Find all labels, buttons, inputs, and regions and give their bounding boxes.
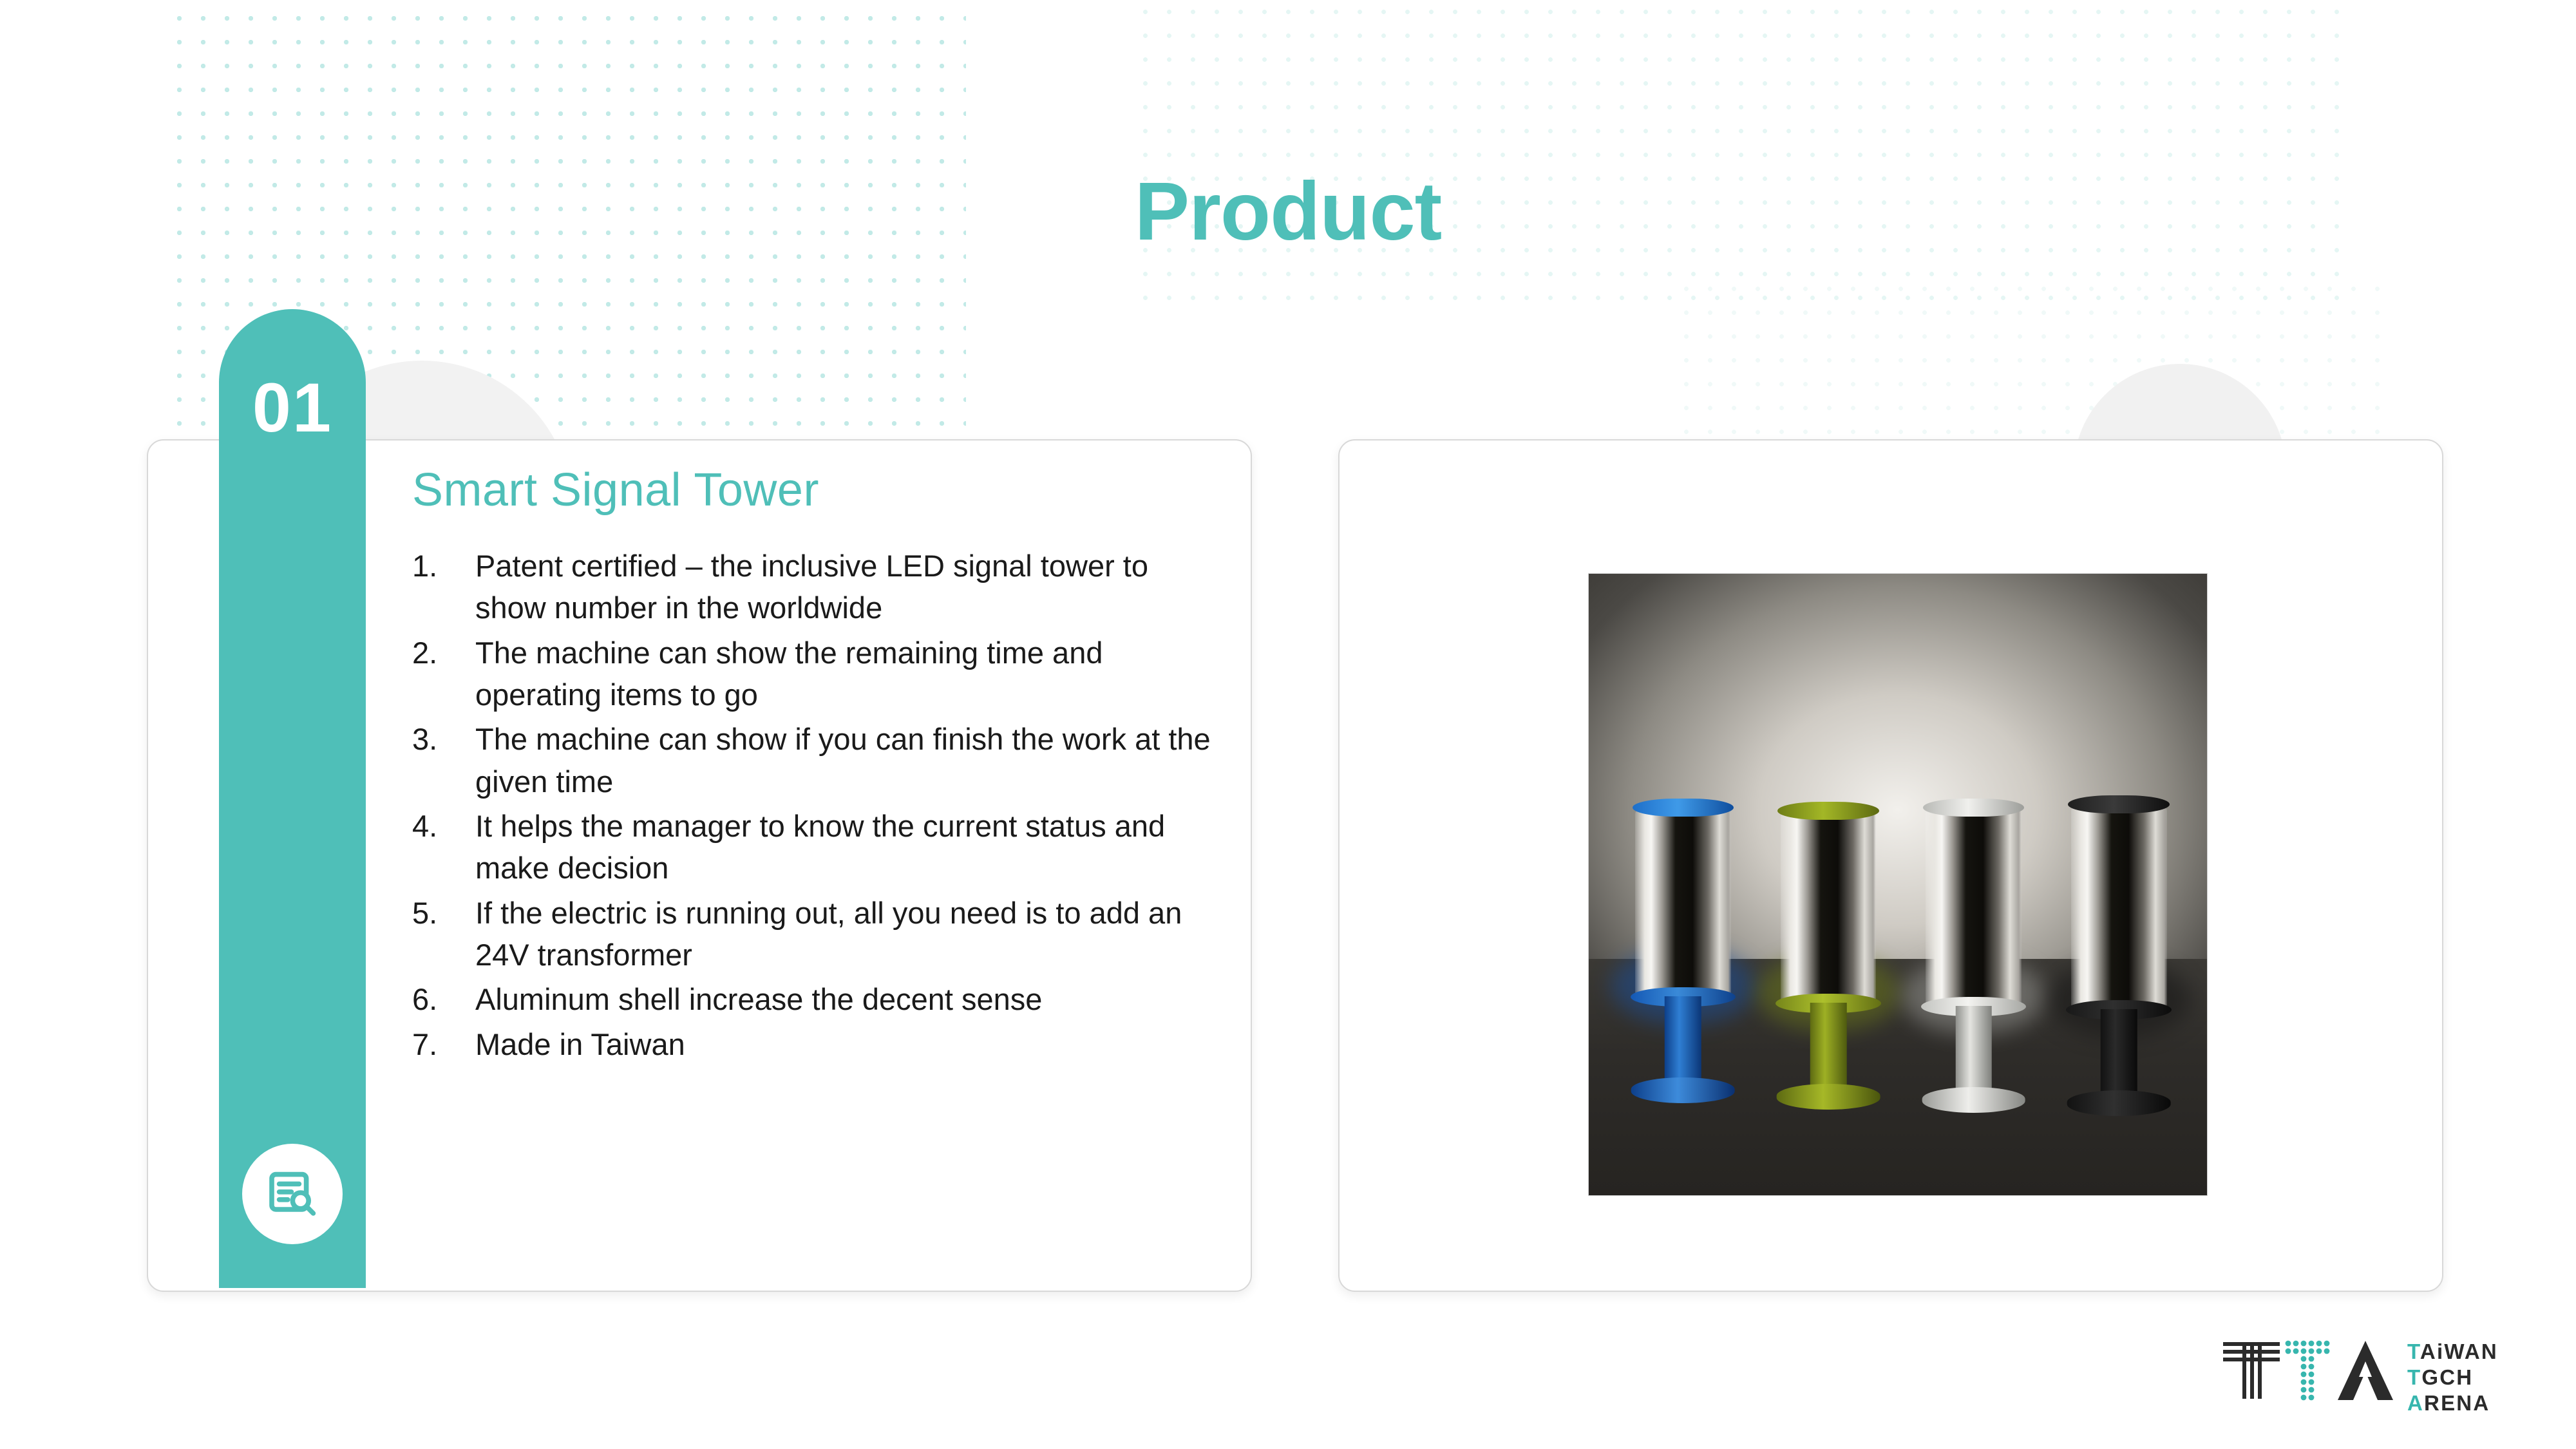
tta-wordmark: TAiWAN TGCH ARENA — [2407, 1341, 2498, 1418]
tta-dotted-t-icon — [2285, 1340, 2333, 1401]
list-item-index: 5. — [412, 892, 475, 934]
document-search-icon — [242, 1144, 343, 1244]
product-info-body: Smart Signal Tower 1. Patent certified –… — [412, 464, 1243, 1068]
list-item: 6. Aluminum shell increase the decent se… — [412, 978, 1224, 1020]
tta-word-line: TGCH — [2407, 1367, 2498, 1388]
list-item-text: The machine can show if you can finish t… — [475, 718, 1224, 802]
tta-word-line: TAiWAN — [2407, 1341, 2498, 1362]
tta-striped-t-icon — [2223, 1340, 2280, 1401]
product-photo — [1588, 573, 2208, 1196]
black-signal-tower — [2071, 807, 2167, 1009]
page-title: Product — [0, 164, 2576, 259]
list-item: 2. The machine can show the remaining ti… — [412, 632, 1224, 716]
list-item-index: 2. — [412, 632, 475, 674]
taiwan-tech-arena-logo: TAiWAN TGCH ARENA — [2223, 1340, 2498, 1418]
product-feature-list: 1. Patent certified – the inclusive LED … — [412, 545, 1224, 1065]
section-number: 01 — [219, 367, 366, 448]
olive-signal-tower — [1781, 813, 1877, 1003]
slide-root: Product 01 Smart Signal Tower 1. Patent … — [0, 0, 2576, 1449]
tta-monogram — [2223, 1340, 2393, 1401]
list-item-text: Made in Taiwan — [475, 1023, 1224, 1065]
product-title: Smart Signal Tower — [412, 464, 1243, 516]
list-item-text: If the electric is running out, all you … — [475, 892, 1224, 976]
dot-pattern-top-right — [1133, 0, 2357, 309]
list-item-text: Aluminum shell increase the decent sense — [475, 978, 1224, 1020]
tta-word-lead: A — [2407, 1391, 2424, 1415]
tta-word-rest: GCH — [2421, 1365, 2473, 1389]
list-item: 7. Made in Taiwan — [412, 1023, 1224, 1065]
blue-signal-tower — [1635, 810, 1731, 997]
list-item-index: 4. — [412, 805, 475, 847]
silver-signal-tower — [1926, 810, 2022, 1006]
tta-solid-a-icon — [2338, 1340, 2393, 1401]
list-item-index: 6. — [412, 978, 475, 1020]
list-item: 3. The machine can show if you can finis… — [412, 718, 1224, 802]
list-item-text: It helps the manager to know the current… — [475, 805, 1224, 889]
list-item-index: 7. — [412, 1023, 475, 1065]
list-item-text: The machine can show the remaining time … — [475, 632, 1224, 716]
list-item-index: 3. — [412, 718, 475, 760]
tta-word-rest: RENA — [2424, 1391, 2490, 1415]
list-item: 5. If the electric is running out, all y… — [412, 892, 1224, 976]
tta-word-lead: T — [2407, 1340, 2420, 1363]
list-item: 1. Patent certified – the inclusive LED … — [412, 545, 1224, 629]
list-item-text: Patent certified – the inclusive LED sig… — [475, 545, 1224, 629]
tta-word-lead: T — [2407, 1365, 2421, 1389]
list-item-index: 1. — [412, 545, 475, 587]
section-number-banner: 01 — [219, 309, 366, 1288]
list-item: 4. It helps the manager to know the curr… — [412, 805, 1224, 889]
tta-word-rest: AiWAN — [2420, 1340, 2498, 1363]
tta-word-line: ARENA — [2407, 1392, 2498, 1414]
